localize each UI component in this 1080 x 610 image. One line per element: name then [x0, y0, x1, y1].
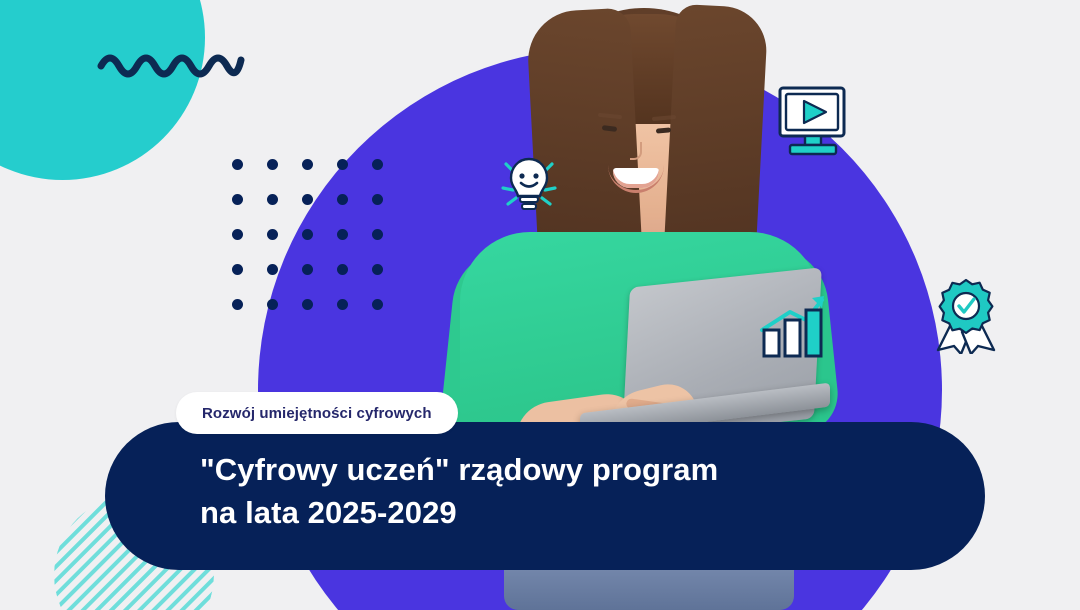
grid-dot [372, 264, 383, 275]
grid-dot [302, 299, 313, 310]
grid-dot [267, 194, 278, 205]
wavy-line-decoration [96, 44, 246, 86]
grid-dot [267, 299, 278, 310]
video-monitor-play-icon [772, 84, 854, 162]
grid-dot [267, 159, 278, 170]
grid-dot [372, 194, 383, 205]
grid-dot [337, 264, 348, 275]
grid-dot [232, 299, 243, 310]
grid-dot [372, 229, 383, 240]
grid-dot [302, 194, 313, 205]
hero-banner-canvas: "Cyfrowy uczeń" rządowy program na lata … [0, 0, 1080, 610]
grid-dot [337, 194, 348, 205]
dot-grid-decoration [232, 159, 392, 319]
grid-dot [372, 159, 383, 170]
grid-dot [267, 229, 278, 240]
grid-dot [232, 229, 243, 240]
eyebrow-badge: Rozwój umiejętności cyfrowych [176, 392, 458, 434]
grid-dot [337, 299, 348, 310]
grid-dot [267, 264, 278, 275]
grid-dot [337, 159, 348, 170]
grid-dot [302, 159, 313, 170]
page-title: "Cyfrowy uczeń" rządowy program na lata … [200, 449, 900, 535]
lightbulb-smiley-icon [500, 152, 558, 214]
teal-circle-decoration [0, 0, 205, 180]
grid-dot [302, 229, 313, 240]
grid-dot [232, 159, 243, 170]
grid-dot [302, 264, 313, 275]
bar-chart-growth-icon [756, 286, 830, 360]
award-badge-check-icon [930, 278, 1002, 354]
grid-dot [372, 299, 383, 310]
eyebrow-badge-label: Rozwój umiejętności cyfrowych [202, 405, 432, 422]
grid-dot [337, 229, 348, 240]
grid-dot [232, 194, 243, 205]
grid-dot [232, 264, 243, 275]
